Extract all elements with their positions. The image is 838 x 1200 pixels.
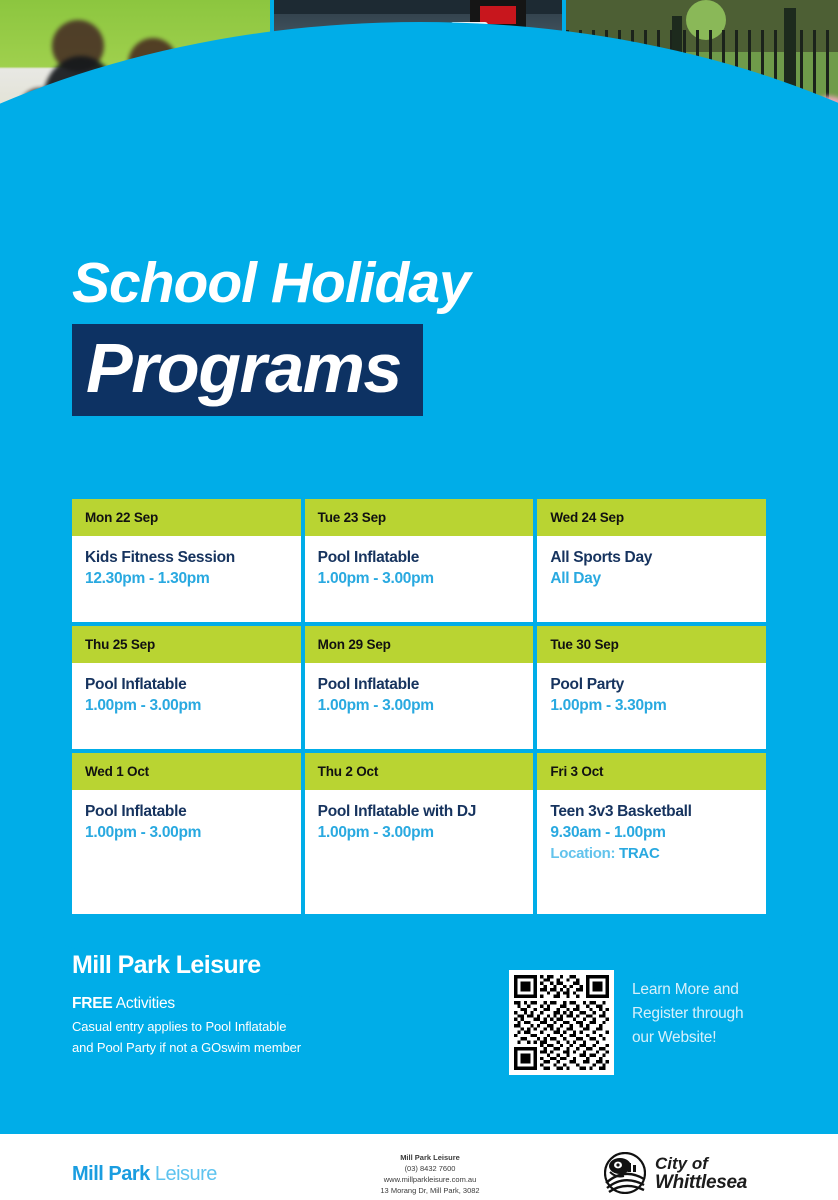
event-cell: Pool Inflatable 1.00pm - 3.00pm [72, 790, 301, 914]
whittlesea-crest-icon [604, 1152, 646, 1194]
table-cell: Pool Party 1.00pm - 3.30pm [537, 663, 766, 749]
date-header: Thu 2 Oct [305, 753, 534, 790]
info-note-line-1: Casual entry applies to Pool Inflatable [72, 1018, 502, 1036]
table-cell: Wed 24 Sep [537, 499, 766, 536]
qr-area: Learn More and Register through our Webs… [509, 970, 743, 1075]
contact-phone: (03) 8432 7600 [330, 1163, 530, 1174]
date-header: Wed 1 Oct [72, 753, 301, 790]
contact-address: 13 Morang Dr, Mill Park, 3082 [330, 1185, 530, 1196]
poster-title: School Holiday Programs [72, 252, 772, 416]
event-location-value: TRAC [619, 845, 659, 862]
event-cell: Pool Party 1.00pm - 3.30pm [537, 663, 766, 749]
event-time: 1.00pm - 3.00pm [85, 822, 288, 843]
event-cell: Pool Inflatable with DJ 1.00pm - 3.00pm [305, 790, 534, 914]
free-activities-line: FREE Activities [72, 993, 502, 1015]
event-time: 1.00pm - 3.00pm [85, 695, 288, 716]
table-cell: Kids Fitness Session 12.30pm - 1.30pm [72, 536, 301, 622]
event-title: Pool Inflatable [318, 548, 521, 568]
event-time: 1.00pm - 3.00pm [318, 695, 521, 716]
event-cell: All Sports Day All Day [537, 536, 766, 622]
table-row-header: Wed 1 Oct Thu 2 Oct Fri 3 Oct [72, 753, 766, 790]
title-line-1: School Holiday [72, 252, 772, 314]
qr-caption-line-2: Register through [632, 1002, 743, 1026]
activities-label: Activities [113, 995, 175, 1012]
table-cell: All Sports Day All Day [537, 536, 766, 622]
city-of-whittlesea-logo: City of Whittlesea [604, 1152, 747, 1194]
event-location: Location: TRAC [550, 843, 753, 864]
event-time: 12.30pm - 1.30pm [85, 568, 288, 589]
table-cell: Pool Inflatable with DJ 1.00pm - 3.00pm [305, 790, 534, 914]
table-cell: Mon 29 Sep [305, 626, 534, 663]
event-title: Pool Inflatable [85, 802, 288, 822]
date-header: Fri 3 Oct [537, 753, 766, 790]
qr-code-image [514, 975, 609, 1070]
event-cell: Pool Inflatable 1.00pm - 3.00pm [305, 536, 534, 622]
info-block: Mill Park Leisure FREE Activities Casual… [72, 950, 502, 1056]
table-cell: Mon 22 Sep [72, 499, 301, 536]
table-cell: Tue 30 Sep [537, 626, 766, 663]
council-line-1: City of [655, 1154, 747, 1173]
table-row-events: Pool Inflatable 1.00pm - 3.00pm Pool Inf… [72, 663, 766, 749]
event-cell: Pool Inflatable 1.00pm - 3.00pm [305, 663, 534, 749]
event-time: All Day [550, 568, 753, 589]
table-cell: Thu 25 Sep [72, 626, 301, 663]
event-cell: Pool Inflatable 1.00pm - 3.00pm [72, 663, 301, 749]
title-line-2-banner: Programs [72, 324, 423, 416]
event-title: Pool Inflatable with DJ [318, 802, 521, 822]
date-header: Thu 25 Sep [72, 626, 301, 663]
date-header: Mon 29 Sep [305, 626, 534, 663]
contact-name: Mill Park Leisure [330, 1152, 530, 1163]
table-cell: Pool Inflatable 1.00pm - 3.00pm [72, 663, 301, 749]
council-line-2: Whittlesea [655, 1173, 747, 1192]
table-cell: Pool Inflatable 1.00pm - 3.00pm [72, 790, 301, 914]
info-note-line-2: and Pool Party if not a GOswim member [72, 1039, 502, 1057]
event-time: 1.00pm - 3.30pm [550, 695, 753, 716]
date-header: Tue 30 Sep [537, 626, 766, 663]
whittlesea-wordmark: City of Whittlesea [655, 1154, 747, 1192]
event-title: Pool Inflatable [318, 675, 521, 695]
event-title: Pool Party [550, 675, 753, 695]
event-time: 1.00pm - 3.00pm [318, 822, 521, 843]
event-time: 9.30am - 1.00pm [550, 822, 753, 843]
table-cell: Pool Inflatable 1.00pm - 3.00pm [305, 663, 534, 749]
table-row-events: Kids Fitness Session 12.30pm - 1.30pm Po… [72, 536, 766, 622]
schedule-table: Mon 22 Sep Tue 23 Sep Wed 24 Sep Kids Fi… [72, 499, 766, 914]
logo-text-light: Leisure [150, 1163, 217, 1185]
whittlesea-crest-svg [604, 1152, 646, 1194]
table-row-header: Mon 22 Sep Tue 23 Sep Wed 24 Sep [72, 499, 766, 536]
event-cell: Teen 3v3 Basketball 9.30am - 1.00pm Loca… [537, 790, 766, 914]
title-line-2: Programs [86, 329, 401, 407]
free-label: FREE [72, 995, 113, 1012]
event-title: Teen 3v3 Basketball [550, 802, 753, 822]
table-cell: Pool Inflatable 1.00pm - 3.00pm [305, 536, 534, 622]
qr-caption-line-1: Learn More and [632, 978, 743, 1002]
date-header: Mon 22 Sep [72, 499, 301, 536]
info-heading: Mill Park Leisure [72, 950, 502, 980]
table-cell: Tue 23 Sep [305, 499, 534, 536]
contact-details: Mill Park Leisure (03) 8432 7600 www.mil… [330, 1152, 530, 1196]
qr-caption: Learn More and Register through our Webs… [632, 970, 743, 1050]
event-title: Kids Fitness Session [85, 548, 288, 568]
event-title: Pool Inflatable [85, 675, 288, 695]
qr-code[interactable] [509, 970, 614, 1075]
event-location-label: Location: [550, 845, 619, 862]
event-cell: Kids Fitness Session 12.30pm - 1.30pm [72, 536, 301, 622]
poster: School Holiday Programs Mon 22 Sep Tue 2… [0, 0, 838, 1200]
date-header: Wed 24 Sep [537, 499, 766, 536]
table-cell: Fri 3 Oct [537, 753, 766, 790]
event-time: 1.00pm - 3.00pm [318, 568, 521, 589]
table-row-header: Thu 25 Sep Mon 29 Sep Tue 30 Sep [72, 626, 766, 663]
date-header: Tue 23 Sep [305, 499, 534, 536]
contact-website[interactable]: www.millparkleisure.com.au [330, 1174, 530, 1185]
logo-text-bold: Mill Park [72, 1163, 150, 1185]
table-row-events: Pool Inflatable 1.00pm - 3.00pm Pool Inf… [72, 790, 766, 914]
mill-park-leisure-logo: Mill Park Leisure [72, 1163, 217, 1186]
qr-caption-line-3: our Website! [632, 1026, 743, 1050]
table-cell: Teen 3v3 Basketball 9.30am - 1.00pm Loca… [537, 790, 766, 914]
table-cell: Thu 2 Oct [305, 753, 534, 790]
event-title: All Sports Day [550, 548, 753, 568]
table-cell: Wed 1 Oct [72, 753, 301, 790]
